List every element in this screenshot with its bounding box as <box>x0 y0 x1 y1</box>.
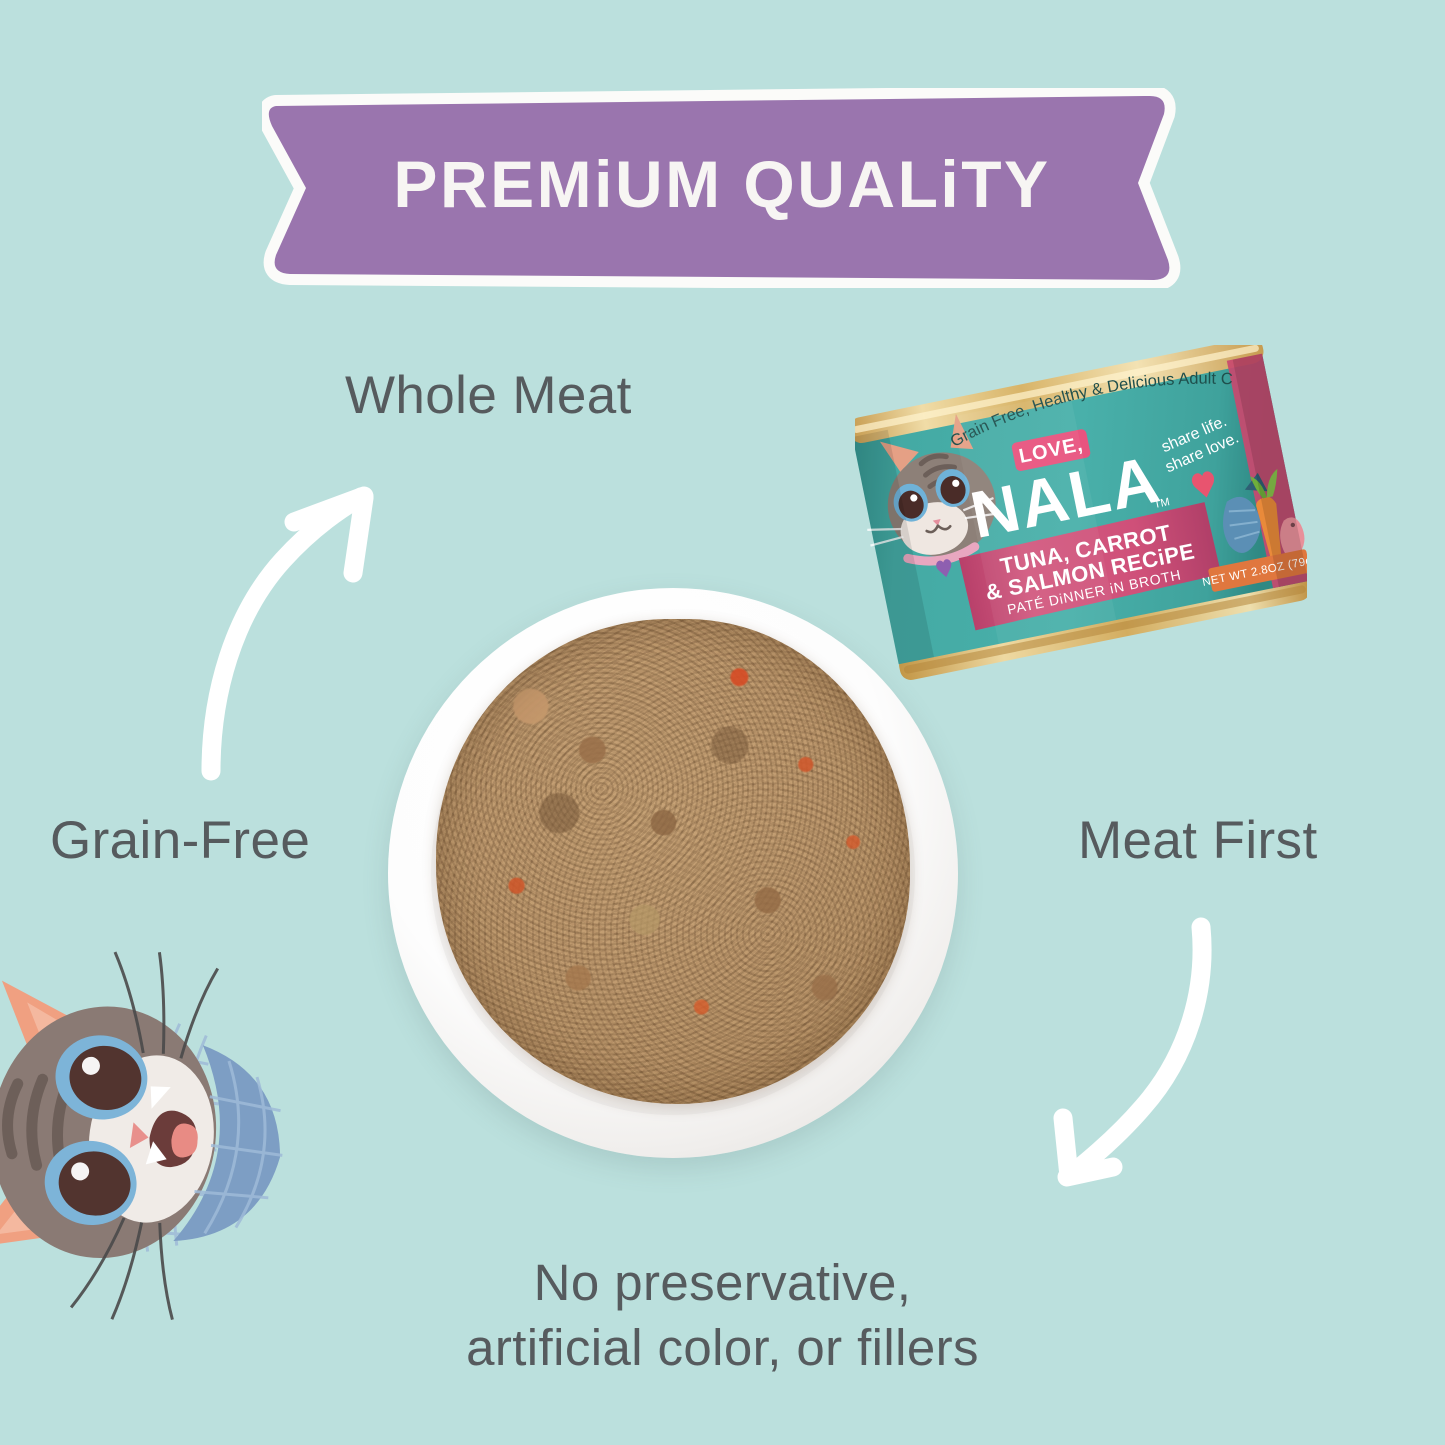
nala-cat-mascot <box>0 935 340 1345</box>
pate-food <box>436 619 909 1104</box>
curved-arrow-down-left-icon <box>1015 905 1255 1205</box>
banner-title: PREMiUM QUALiTY <box>262 88 1182 288</box>
curved-arrow-up-right-icon <box>175 465 405 785</box>
feature-label-meat-first: Meat First <box>1078 810 1318 871</box>
feature-label-grain-free: Grain-Free <box>50 810 310 871</box>
cat-food-can: Grain Free, Healthy & Delicious Adult Ca… <box>855 345 1307 695</box>
product-infographic: PREMiUM QUALiTY Whole Meat Grain-Free Me… <box>0 0 1445 1445</box>
premium-quality-banner: PREMiUM QUALiTY <box>262 88 1182 288</box>
feature-label-whole-meat: Whole Meat <box>345 365 632 426</box>
